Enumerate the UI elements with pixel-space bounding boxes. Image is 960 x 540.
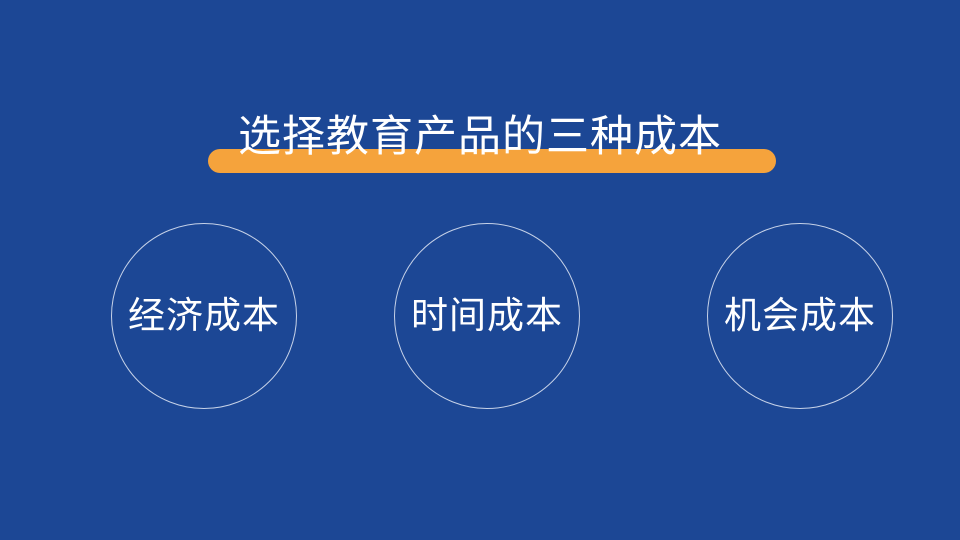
cost-circles-row: 经济成本 时间成本 机会成本 (0, 223, 960, 413)
cost-circle-economic[interactable]: 经济成本 (111, 223, 297, 409)
cost-circle-time[interactable]: 时间成本 (394, 223, 580, 409)
slide-title-block: 选择教育产品的三种成本 (0, 52, 960, 132)
cost-circle-opportunity[interactable]: 机会成本 (707, 223, 893, 409)
cost-circle-label-time: 时间成本 (411, 296, 563, 336)
cost-circle-label-opportunity: 机会成本 (724, 296, 876, 336)
presentation-slide: 选择教育产品的三种成本 经济成本 时间成本 机会成本 (0, 0, 960, 540)
page-title: 选择教育产品的三种成本 (0, 112, 960, 162)
cost-circle-label-economic: 经济成本 (128, 296, 280, 336)
